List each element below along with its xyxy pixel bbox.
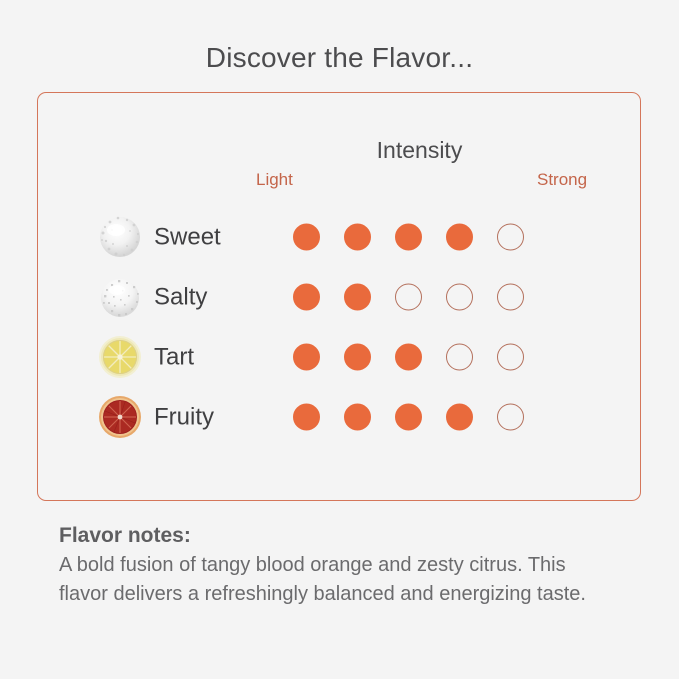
flavor-label-sweet: Sweet xyxy=(154,223,221,252)
intensity-dot-filled xyxy=(293,284,320,311)
intensity-dot-empty xyxy=(497,224,524,251)
intensity-dots-sweet xyxy=(293,224,524,251)
intensity-dots-tart xyxy=(293,344,524,371)
flavor-label-fruity: Fruity xyxy=(154,403,214,432)
salt-crystals-icon xyxy=(94,271,146,323)
intensity-dot-filled xyxy=(395,404,422,431)
scale-high-label: Strong xyxy=(537,170,587,190)
intensity-dot-filled xyxy=(446,224,473,251)
intensity-dot-filled xyxy=(344,284,371,311)
flavor-row-salty: Salty xyxy=(0,267,679,327)
intensity-dot-empty xyxy=(497,284,524,311)
intensity-dot-empty xyxy=(446,284,473,311)
blood-orange-slice-icon xyxy=(94,391,146,443)
intensity-dot-empty xyxy=(395,284,422,311)
intensity-dot-empty xyxy=(497,344,524,371)
intensity-dot-empty xyxy=(497,404,524,431)
scale-low-label: Light xyxy=(256,170,293,190)
intensity-dots-salty xyxy=(293,284,524,311)
flavor-label-salty: Salty xyxy=(154,283,207,312)
intensity-dot-filled xyxy=(293,344,320,371)
intensity-dot-filled xyxy=(344,404,371,431)
lemon-slice-icon xyxy=(94,331,146,383)
page-title: Discover the Flavor... xyxy=(0,41,679,75)
sugar-pile-icon xyxy=(94,211,146,263)
flavor-rows: Sweet xyxy=(0,207,679,447)
intensity-dot-filled xyxy=(293,224,320,251)
intensity-dot-filled xyxy=(344,344,371,371)
intensity-dot-filled xyxy=(344,224,371,251)
intensity-heading: Intensity xyxy=(232,136,607,164)
flavor-notes-heading: Flavor notes: xyxy=(59,522,639,549)
intensity-dot-filled xyxy=(446,404,473,431)
flavor-row-tart: Tart xyxy=(0,327,679,387)
intensity-dot-filled xyxy=(395,224,422,251)
flavor-profile-page: Discover the Flavor... Intensity Light S… xyxy=(0,0,679,679)
intensity-dot-filled xyxy=(293,404,320,431)
flavor-row-sweet: Sweet xyxy=(0,207,679,267)
flavor-notes-body: A bold fusion of tangy blood orange and … xyxy=(59,551,619,609)
intensity-dots-fruity xyxy=(293,404,524,431)
intensity-dot-empty xyxy=(446,344,473,371)
flavor-label-tart: Tart xyxy=(154,343,194,372)
intensity-dot-filled xyxy=(395,344,422,371)
flavor-notes: Flavor notes: A bold fusion of tangy blo… xyxy=(59,522,639,609)
flavor-row-fruity: Fruity xyxy=(0,387,679,447)
